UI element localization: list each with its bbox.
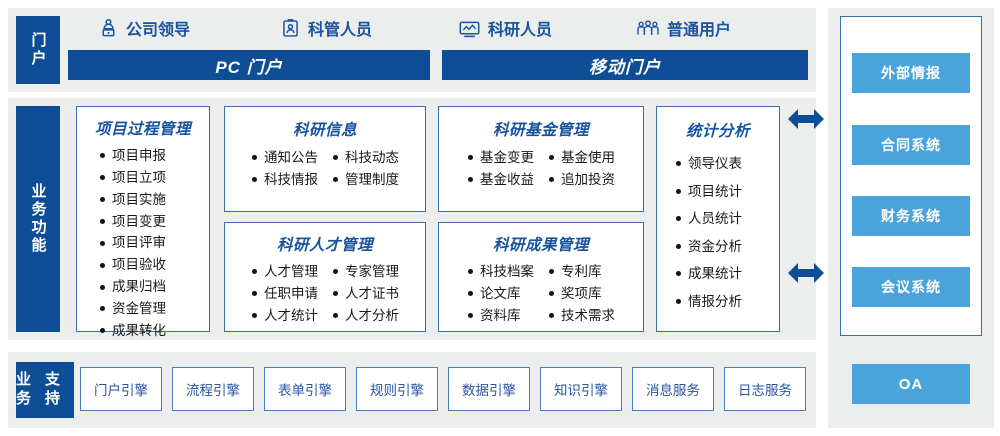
card-project-process[interactable]: 项目过程管理 项目申报 项目立项 项目实施 项目变更 项目评审 项目验收 成果归… [76,106,210,332]
list-item[interactable]: 项目实施 [99,189,209,211]
architecture-diagram: 门户 公司领导 科管人员 [0,0,1000,436]
card-research-talent[interactable]: 科研人才管理 人才管理 任职申请 人才统计 专家管理 人才证书 人才分析 [224,222,426,332]
list-item[interactable]: 任职申请 [251,283,318,305]
list-item[interactable]: 成果转化 [99,320,209,342]
list-item[interactable]: 论文库 [467,283,534,305]
card-item-list-left: 通知公告 科技情报 [251,147,318,191]
list-item[interactable]: 项目立项 [99,167,209,189]
card-item-list-left: 科技档案 论文库 资料库 [467,261,534,327]
card-item-list-right: 科技动态 管理制度 [332,147,399,191]
list-item[interactable]: 技术需求 [548,305,615,327]
list-item[interactable]: 专家管理 [332,261,399,283]
card-item-columns: 通知公告 科技情报 科技动态 管理制度 [225,147,425,191]
card-item-columns: 科技档案 论文库 资料库 专利库 奖项库 技术需求 [439,261,643,327]
list-item[interactable]: 项目评审 [99,232,209,254]
portal-bars: PC 门户 移动门户 [68,50,808,80]
list-item[interactable]: 管理制度 [332,169,399,191]
support-item-form-engine[interactable]: 表单引擎 [264,367,346,411]
list-item[interactable]: 情报分析 [675,288,779,316]
list-item[interactable]: 项目统计 [675,178,779,206]
card-item-list-left: 人才管理 任职申请 人才统计 [251,261,318,327]
list-item[interactable]: 成果统计 [675,260,779,288]
list-item[interactable]: 科技动态 [332,147,399,169]
card-item-list-right: 基金使用 追加投资 [548,147,615,191]
business-support-label-line1: 业务 [16,371,45,409]
user-group-icon [636,18,660,39]
card-research-fund[interactable]: 科研基金管理 基金变更 基金收益 基金使用 追加投资 [438,106,644,212]
list-item[interactable]: 项目验收 [99,254,209,276]
role-label: 公司领导 [126,16,190,40]
card-item-list: 领导仪表 项目统计 人员统计 资金分析 成果统计 情报分析 [675,150,779,315]
card-title: 项目过程管理 [77,117,209,139]
portal-label-text: 门户 [31,32,46,68]
id-badge-icon [280,18,301,39]
list-item[interactable]: 人员统计 [675,205,779,233]
monitor-chart-icon [458,18,481,39]
external-system-intelligence[interactable]: 外部情报 [852,53,970,93]
list-item[interactable]: 追加投资 [548,169,615,191]
list-item[interactable]: 资料库 [467,305,534,327]
list-item[interactable]: 人才统计 [251,305,318,327]
card-item-list: 项目申报 项目立项 项目实施 项目变更 项目评审 项目验收 成果归档 资金管理 … [99,145,209,342]
list-item[interactable]: 资金管理 [99,298,209,320]
card-research-info[interactable]: 科研信息 通知公告 科技情报 科技动态 管理制度 [224,106,426,212]
external-system-meeting[interactable]: 会议系统 [852,267,970,307]
leader-podium-icon [98,18,119,39]
role-research-admin[interactable]: 科管人员 [280,12,372,44]
card-title: 统计分析 [657,119,779,141]
card-item-columns: 基金变更 基金收益 基金使用 追加投资 [439,147,643,191]
support-item-log-service[interactable]: 日志服务 [724,367,806,411]
list-item[interactable]: 科技档案 [467,261,534,283]
card-research-result[interactable]: 科研成果管理 科技档案 论文库 资料库 专利库 奖项库 技术需求 [438,222,644,332]
business-function-label: 业务功能 [16,106,60,332]
portal-bar-mobile[interactable]: 移动门户 [442,50,808,80]
support-item-data-engine[interactable]: 数据引擎 [448,367,530,411]
list-item[interactable]: 项目变更 [99,211,209,233]
portal-section-label: 门户 [16,16,60,84]
list-item[interactable]: 人才分析 [332,305,399,327]
external-system-contract[interactable]: 合同系统 [852,125,970,165]
business-support-items: 门户引擎 流程引擎 表单引擎 规则引擎 数据引擎 知识引擎 消息服务 日志服务 [80,367,806,411]
external-system-oa[interactable]: OA [852,364,970,404]
role-researcher[interactable]: 科研人员 [458,12,552,44]
role-label: 普通用户 [667,16,731,40]
support-item-message-service[interactable]: 消息服务 [632,367,714,411]
double-arrow-horizontal-icon [787,260,825,291]
card-item-list-right: 专家管理 人才证书 人才分析 [332,261,399,327]
list-item[interactable]: 基金收益 [467,169,534,191]
card-title: 科研基金管理 [439,118,643,140]
external-system-finance[interactable]: 财务系统 [852,196,970,236]
role-company-leader[interactable]: 公司领导 [98,12,190,44]
card-item-list-right: 专利库 奖项库 技术需求 [548,261,615,327]
support-item-portal-engine[interactable]: 门户引擎 [80,367,162,411]
role-normal-user[interactable]: 普通用户 [636,12,731,44]
portal-bar-pc[interactable]: PC 门户 [68,50,430,80]
list-item[interactable]: 基金变更 [467,147,534,169]
business-function-label-text: 业务功能 [31,183,46,255]
list-item[interactable]: 资金分析 [675,233,779,261]
business-support-label: 业务 支持 [16,362,74,418]
list-item[interactable]: 项目申报 [99,145,209,167]
card-item-list-left: 基金变更 基金收益 [467,147,534,191]
list-item[interactable]: 人才证书 [332,283,399,305]
support-item-rule-engine[interactable]: 规则引擎 [356,367,438,411]
list-item[interactable]: 专利库 [548,261,615,283]
list-item[interactable]: 成果归档 [99,276,209,298]
business-support-label-line2: 支持 [45,371,74,409]
role-label: 科研人员 [488,16,552,40]
support-item-process-engine[interactable]: 流程引擎 [172,367,254,411]
list-item[interactable]: 科技情报 [251,169,318,191]
card-statistics-analysis[interactable]: 统计分析 领导仪表 项目统计 人员统计 资金分析 成果统计 情报分析 [656,106,780,332]
list-item[interactable]: 人才管理 [251,261,318,283]
list-item[interactable]: 领导仪表 [675,150,779,178]
list-item[interactable]: 基金使用 [548,147,615,169]
card-title: 科研人才管理 [225,233,425,255]
list-item[interactable]: 奖项库 [548,283,615,305]
role-label: 科管人员 [308,16,372,40]
card-title: 科研成果管理 [439,233,643,255]
card-item-columns: 人才管理 任职申请 人才统计 专家管理 人才证书 人才分析 [225,261,425,327]
double-arrow-horizontal-icon [787,106,825,137]
card-title: 科研信息 [225,118,425,140]
list-item[interactable]: 通知公告 [251,147,318,169]
role-list: 公司领导 科管人员 科研人员 [68,12,808,44]
support-item-knowledge-engine[interactable]: 知识引擎 [540,367,622,411]
